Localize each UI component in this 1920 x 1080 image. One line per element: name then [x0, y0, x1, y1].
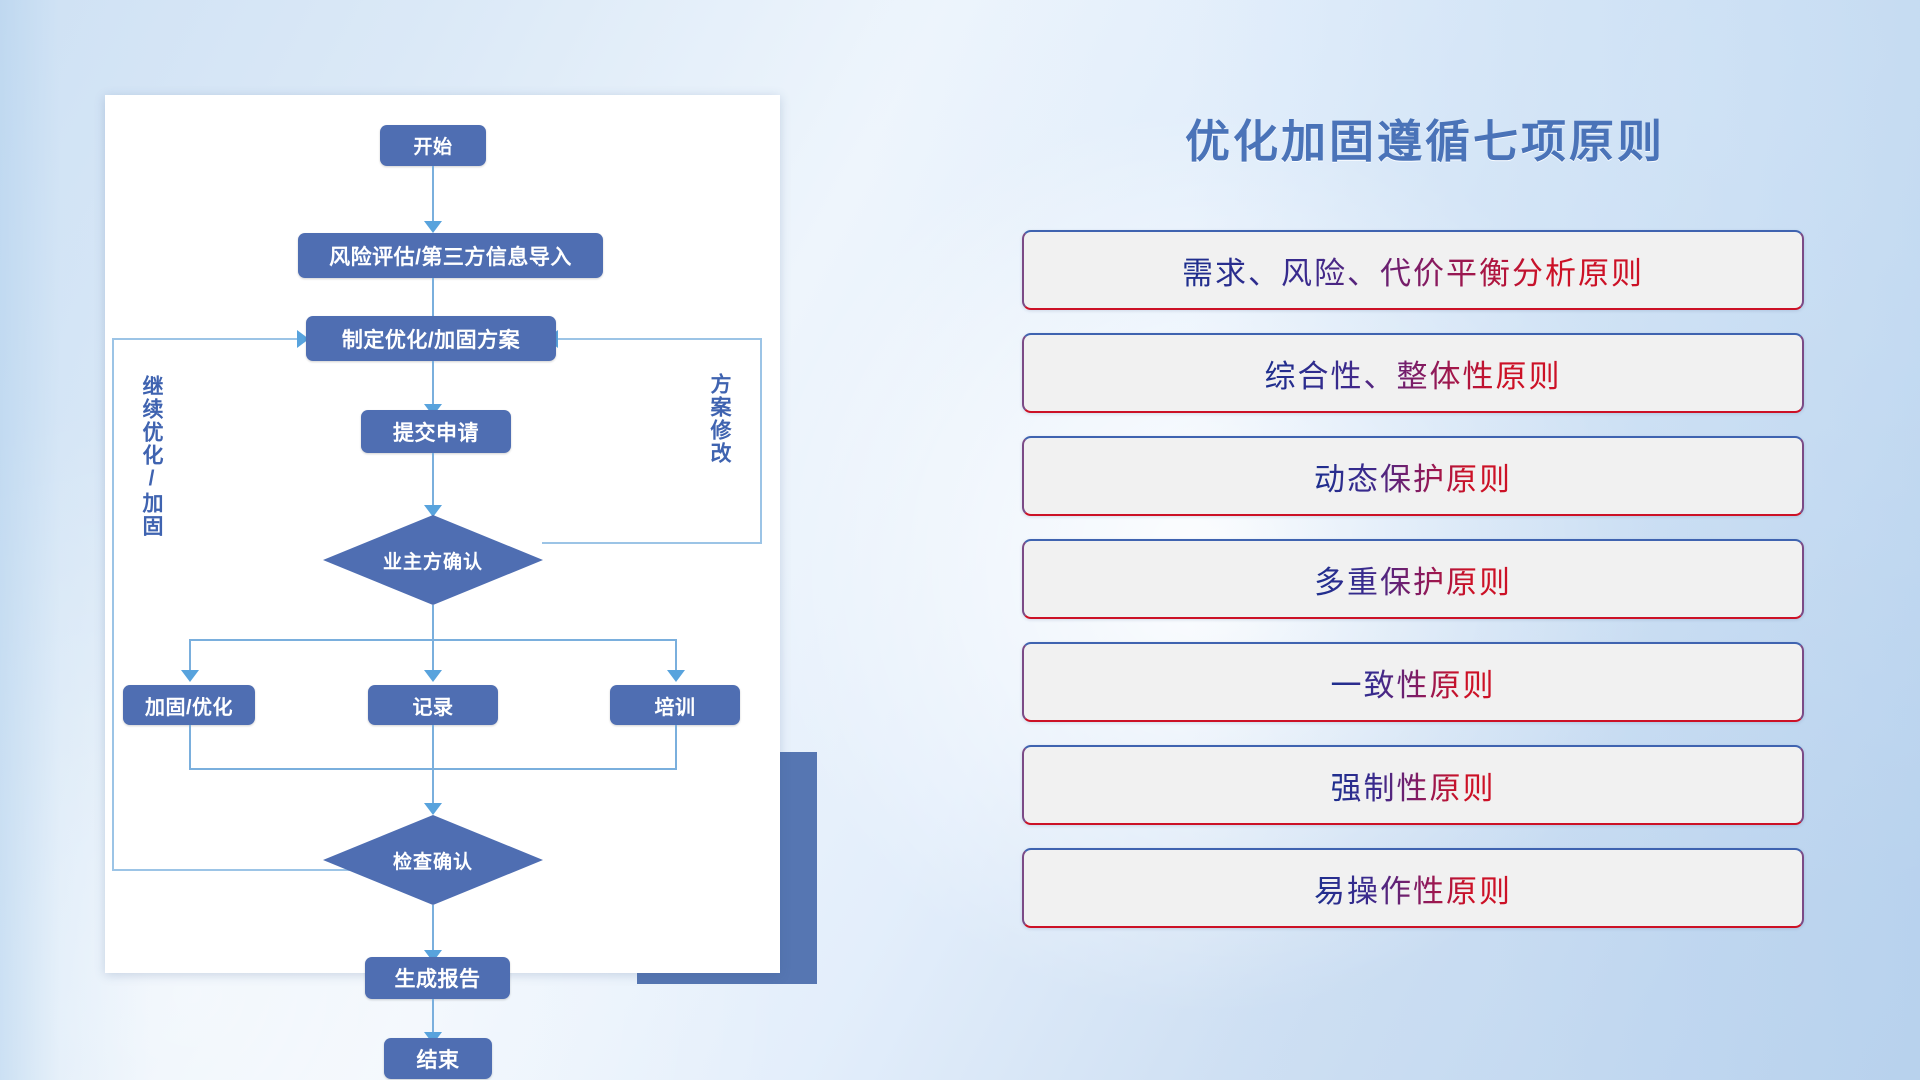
right-loop-vertical	[760, 338, 762, 543]
principle-label: 需求、风险、代价平衡分析原则	[1182, 248, 1644, 293]
node-record-label: 记录	[413, 691, 454, 720]
node-make-plan-label: 制定优化/加固方案	[342, 324, 520, 354]
edge-record-to-check	[432, 725, 434, 810]
edge-start-to-risk	[432, 166, 434, 226]
right-loop-bottom	[542, 542, 762, 544]
node-training[interactable]: 培训	[610, 685, 740, 725]
edge-train-down	[675, 725, 677, 770]
node-generate-report[interactable]: 生成报告	[365, 957, 510, 999]
left-loop-top	[112, 338, 302, 340]
edge-reinforce-down	[189, 725, 191, 770]
node-risk-assessment[interactable]: 风险评估/第三方信息导入	[298, 233, 603, 278]
edge-branch-to-reinforce-arrow	[181, 670, 199, 682]
node-reinforce-optimize-label: 加固/优化	[145, 691, 233, 720]
edge-merge-to-check-arrow	[424, 803, 442, 815]
principle-label: 综合性、整体性原则	[1265, 351, 1562, 396]
node-risk-assessment-label: 风险评估/第三方信息导入	[329, 241, 572, 271]
edge-start-to-risk-arrow	[424, 221, 442, 233]
edge-branch-to-train-arrow	[667, 670, 685, 682]
node-make-plan[interactable]: 制定优化/加固方案	[306, 316, 556, 361]
node-end[interactable]: 结束	[384, 1038, 492, 1079]
edge-submit-to-owner	[432, 453, 434, 513]
principles-panel: 优化加固遵循七项原则	[1020, 105, 1830, 170]
principle-item-3[interactable]: 动态保护原则	[1022, 436, 1804, 516]
principles-panel-title: 优化加固遵循七项原则	[1020, 105, 1830, 170]
principle-item-5[interactable]: 一致性原则	[1022, 642, 1804, 722]
node-reinforce-optimize[interactable]: 加固/优化	[123, 685, 255, 725]
principle-label: 动态保护原则	[1314, 454, 1512, 499]
node-end-label: 结束	[417, 1044, 460, 1074]
edge-owner-down	[432, 605, 434, 640]
node-training-label: 培训	[655, 691, 696, 720]
edge-label-continue-optimize: 继续优化/加固	[140, 375, 162, 538]
principles-list: 需求、风险、代价平衡分析原则 综合性、整体性原则 动态保护原则 多重保护原则 一…	[1022, 230, 1804, 951]
principle-item-1[interactable]: 需求、风险、代价平衡分析原则	[1022, 230, 1804, 310]
node-start-label: 开始	[413, 132, 452, 159]
principle-item-7[interactable]: 易操作性原则	[1022, 848, 1804, 928]
principle-label: 一致性原则	[1331, 660, 1496, 705]
node-submit-application[interactable]: 提交申请	[361, 410, 511, 453]
left-loop-vertical	[112, 338, 114, 871]
node-check-confirm-label: 检查确认	[323, 815, 543, 905]
left-loop-bottom	[112, 869, 352, 871]
node-record[interactable]: 记录	[368, 685, 498, 725]
node-check-confirm[interactable]: 检查确认	[323, 815, 543, 905]
node-submit-application-label: 提交申请	[393, 417, 479, 447]
edge-label-plan-revision: 方案修改	[708, 373, 730, 465]
node-owner-confirm-label: 业主方确认	[323, 515, 543, 605]
principle-item-4[interactable]: 多重保护原则	[1022, 539, 1804, 619]
principle-label: 强制性原则	[1331, 763, 1496, 808]
flowchart-card: 开始 风险评估/第三方信息导入 制定优化/加固方案 提交申请 业主方确认	[105, 95, 780, 973]
edge-branch-to-record-arrow	[424, 670, 442, 682]
node-owner-confirm[interactable]: 业主方确认	[323, 515, 543, 605]
principle-label: 易操作性原则	[1314, 866, 1512, 911]
principle-item-2[interactable]: 综合性、整体性原则	[1022, 333, 1804, 413]
slide-canvas: 开始 风险评估/第三方信息导入 制定优化/加固方案 提交申请 业主方确认	[0, 0, 1920, 1080]
node-start[interactable]: 开始	[380, 125, 486, 166]
principle-label: 多重保护原则	[1314, 557, 1512, 602]
node-generate-report-label: 生成报告	[395, 963, 481, 993]
right-loop-top	[557, 338, 762, 340]
principle-item-6[interactable]: 强制性原则	[1022, 745, 1804, 825]
